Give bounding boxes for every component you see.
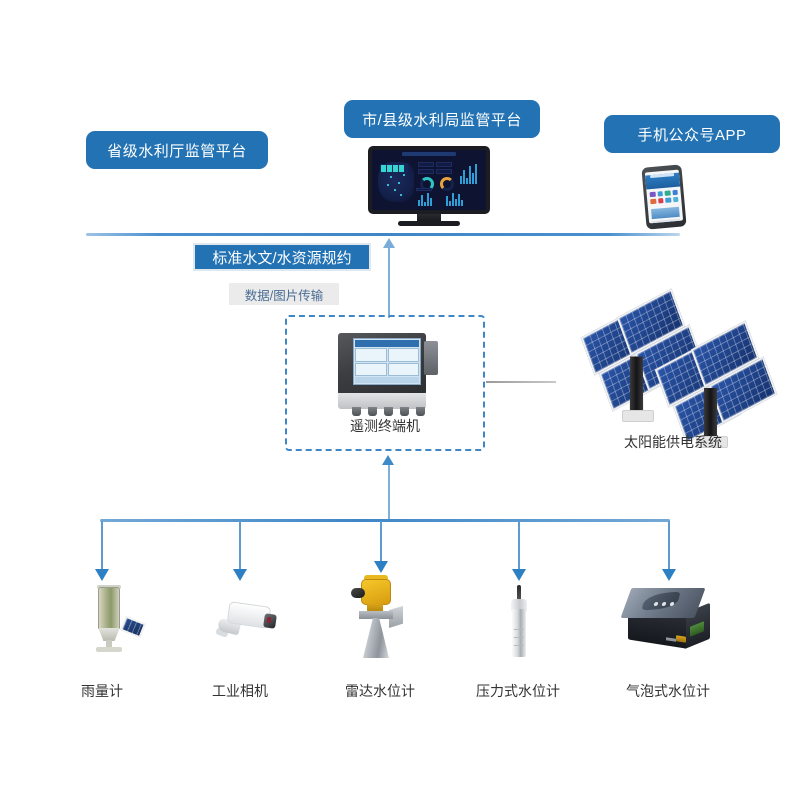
solar-power-label-text: 太阳能供电系统 [624, 434, 722, 450]
dashboard-stat-3 [418, 169, 434, 174]
sensor-arrow-icon-5 [662, 569, 676, 581]
solar-power-caption: 太阳能供电系统 [578, 432, 768, 452]
solar-power-icon [580, 296, 765, 446]
rtu-caption: 遥测终端机 [285, 416, 485, 436]
protocol-transfer-label: 数据/图片传输 [245, 285, 323, 304]
sensor-distribution-bus [100, 519, 670, 522]
bubble-level-gauge-icon [622, 588, 718, 654]
radar-level-meter-icon [345, 575, 415, 661]
protocol-standard-label: 标准水文/水资源规约 [212, 247, 351, 268]
pressure-level-sensor-icon [500, 585, 540, 659]
phone-app-footer [652, 219, 680, 224]
phone-app-banner [651, 207, 680, 219]
sensor-label-industrial-camera: 工业相机 [212, 683, 268, 699]
sensor-label-rain-gauge: 雨量计 [81, 683, 123, 699]
rtu-label-text: 遥测终端机 [350, 418, 420, 434]
sensor-label-bubble-level: 气泡式水位计 [626, 683, 710, 699]
rtu-display-panel [353, 338, 421, 385]
sensor-bus-uplink-line [388, 462, 390, 522]
dashboard-bar-chart-mid [418, 192, 432, 206]
dashboard-stat-4 [436, 169, 452, 174]
rain-gauge-solar-panel-icon [120, 615, 146, 638]
sensor-caption-rain-gauge: 雨量计 [57, 681, 147, 701]
rtu-device-icon [330, 333, 440, 411]
platform-node-mobile-app[interactable]: 手机公众号APP [604, 115, 780, 153]
sensor-arrow-icon-4 [512, 569, 526, 581]
platform-node-provincial[interactable]: 省级水利厅监管平台 [86, 131, 268, 169]
sensor-caption-pressure-level: 压力式水位计 [463, 681, 573, 701]
monitor-dashboard-screen [372, 150, 486, 210]
rtu-side-connector [424, 341, 438, 375]
platform-label-mobile-app: 手机公众号APP [637, 124, 746, 145]
rain-gauge-icon [82, 585, 152, 655]
platform-label-city-county: 市/县级水利局监管平台 [362, 109, 522, 130]
sensor-caption-bubble-level: 气泡式水位计 [613, 681, 723, 701]
dashboard-stat-2 [436, 162, 452, 167]
sensor-arrow-icon-3 [374, 561, 388, 573]
monitor-icon [368, 146, 490, 228]
diagram-canvas: 省级水利厅监管平台 市/县级水利局监管平台 手机公众号APP [0, 0, 800, 800]
dashboard-section-label [416, 188, 432, 191]
network-backbone-line [86, 233, 680, 236]
sensor-label-pressure-level: 压力式水位计 [476, 683, 560, 699]
platform-node-city-county[interactable]: 市/县级水利局监管平台 [344, 100, 540, 138]
sensor-arrow-icon-1 [95, 569, 109, 581]
sensor-bus-uplink-arrow-icon [382, 455, 394, 465]
phone-app-screen [645, 170, 683, 224]
protocol-standard-badge: 标准水文/水资源规约 [193, 243, 371, 271]
uplink-arrow-icon [383, 238, 395, 248]
industrial-camera-icon [212, 600, 282, 648]
dashboard-donut-2 [440, 177, 454, 191]
sensor-drop-line-5 [668, 521, 670, 571]
rtu-enclosure [338, 333, 426, 395]
sensor-arrow-icon-2 [233, 569, 247, 581]
sensor-caption-industrial-camera: 工业相机 [195, 681, 285, 701]
smartphone-icon [644, 166, 684, 228]
dashboard-title-bar [402, 152, 456, 156]
sensor-caption-radar-level: 雷达水位计 [325, 681, 435, 701]
sensor-drop-line-3 [380, 521, 382, 563]
dashboard-bar-chart-far [446, 192, 463, 206]
sensor-drop-line-2 [239, 521, 241, 571]
uplink-connector-line [388, 244, 390, 318]
phone-app-icon-grid [646, 187, 681, 208]
monitor-bezel [368, 146, 490, 214]
phone-body [641, 164, 686, 229]
rtu-antenna-icon [486, 381, 556, 383]
monitor-base [398, 221, 460, 226]
sensor-label-radar-level: 雷达水位计 [345, 683, 415, 699]
dashboard-kpi-blocks [380, 164, 408, 173]
dashboard-bar-chart-right [460, 162, 477, 184]
platform-label-provincial: 省级水利厅监管平台 [107, 140, 247, 161]
protocol-transfer-badge: 数据/图片传输 [229, 283, 339, 305]
sensor-drop-line-1 [101, 521, 103, 571]
sensor-drop-line-4 [518, 521, 520, 571]
dashboard-stat-1 [418, 162, 434, 167]
